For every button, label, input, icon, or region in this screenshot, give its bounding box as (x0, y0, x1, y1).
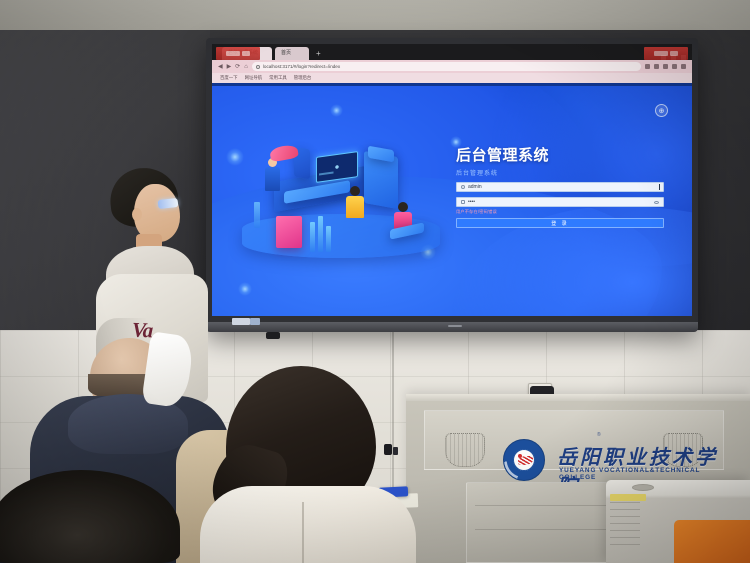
screen-corner-label-left (216, 47, 260, 60)
bookmark-item[interactable]: 百度一下 (220, 75, 238, 81)
label-tick (654, 51, 668, 56)
seal-emblem (513, 449, 535, 471)
glow-dot (238, 282, 252, 296)
label-tick (226, 51, 240, 56)
browser-window: 若依管理系统 首页 + ◀ ▶ ⟳ ⌂ local (212, 44, 692, 86)
podium-name-plate: ® 岳阳职业技术学院 YUEYANG VOCATIONAL&TECHNICAL … (424, 410, 724, 470)
glow-dot (330, 104, 343, 117)
interactive-flat-panel[interactable]: 若依管理系统 首页 + ◀ ▶ ⟳ ⌂ local (206, 38, 698, 330)
audience-woman-coat (200, 486, 416, 563)
extensions-icon[interactable] (663, 64, 668, 69)
browser-toolbar: ◀ ▶ ⟳ ⌂ localhost:3171/#/login?redirect=… (212, 60, 692, 73)
panel-status-led (448, 325, 462, 327)
user-icon (461, 185, 465, 189)
illu-bar (310, 222, 315, 252)
url-text: localhost:3171/#/login?redirect=/index (263, 64, 340, 69)
coat-seam (302, 502, 304, 563)
isometric-illustration (240, 130, 445, 265)
speaker-grille-left (445, 433, 485, 467)
audience-foreground (0, 470, 180, 563)
shield-icon (256, 65, 260, 69)
login-page: ⊕ (212, 86, 692, 316)
back-icon[interactable]: ◀ (218, 64, 223, 70)
panel-microphone (266, 332, 280, 339)
username-value: admin (468, 184, 656, 190)
profile-icon[interactable] (672, 64, 677, 69)
classroom-photo: 若依管理系统 首页 + ◀ ▶ ⟳ ⌂ local (0, 0, 750, 563)
username-input[interactable]: admin (456, 182, 664, 192)
menu-icon[interactable] (681, 64, 686, 69)
illu-bar (326, 226, 331, 252)
browser-tabstrip: 若依管理系统 首页 + (212, 44, 692, 60)
login-title: 后台管理系统 (456, 144, 664, 165)
bookmarks-bar[interactable]: 百度一下 网址导航 常用工具 管理后台 (212, 73, 692, 83)
illu-bar (318, 216, 323, 252)
password-input[interactable]: •••• (456, 197, 664, 207)
illu-person-center (344, 186, 368, 230)
desk-vent-slots (610, 502, 640, 546)
login-submit-button[interactable]: 登 录 (456, 218, 664, 228)
illu-monitor-content (319, 154, 355, 179)
podium-top-surface (406, 394, 750, 401)
registered-mark: ® (597, 432, 601, 438)
login-subtitle: 后台管理系统 (456, 168, 664, 177)
illu-person-body (265, 167, 280, 191)
college-name-en: YUEYANG VOCATIONAL&TECHNICAL COLLEGE (559, 467, 723, 481)
eye-icon[interactable] (654, 201, 659, 204)
login-error-text: 用户不存在/密码错误 (456, 209, 664, 215)
college-seal-logo (503, 439, 545, 481)
lock-icon (461, 200, 465, 204)
yellow-label (610, 494, 646, 501)
bookmark-item[interactable]: 管理后台 (294, 75, 312, 81)
panel-bottom-bezel (206, 322, 698, 332)
address-bar[interactable]: localhost:3171/#/login?redirect=/index (252, 62, 641, 71)
star-icon[interactable] (645, 64, 650, 69)
label-tick (242, 51, 250, 56)
bookmark-item[interactable]: 常用工具 (269, 75, 287, 81)
presenter-ear (132, 208, 142, 221)
illu-pink-box (276, 216, 302, 248)
download-icon[interactable] (654, 64, 659, 69)
illu-person-body (346, 196, 364, 218)
illu-bar (254, 202, 260, 228)
desk-cable-grommet (632, 484, 654, 491)
password-value: •••• (468, 199, 651, 205)
home-icon[interactable]: ⌂ (244, 64, 248, 70)
toolbar-actions[interactable] (645, 64, 686, 69)
orange-equipment (674, 520, 750, 563)
label-tick (670, 51, 678, 56)
bookmark-item[interactable]: 网址导航 (245, 75, 263, 81)
foreground-hair (0, 470, 180, 563)
globe-icon[interactable]: ⊕ (655, 104, 668, 117)
browser-tab-inactive[interactable]: 首页 (275, 47, 309, 60)
new-tab-button[interactable]: + (312, 47, 325, 60)
illu-person-head (350, 186, 360, 196)
side-desk (606, 480, 750, 563)
panel-screen: 若依管理系统 首页 + ◀ ▶ ⟳ ⌂ local (212, 44, 692, 316)
screen-corner-label-right (644, 47, 688, 60)
illu-person-left (262, 158, 284, 206)
audience-woman (206, 366, 410, 563)
ceiling (0, 0, 750, 34)
illu-person-head (398, 202, 408, 212)
login-form: 后台管理系统 后台管理系统 admin •••• 用户不存在/密码错误 登 录 (456, 144, 664, 228)
panel-button[interactable] (232, 318, 250, 325)
text-caret (659, 184, 660, 190)
reload-icon[interactable]: ⟳ (235, 64, 240, 70)
panel-button[interactable] (250, 318, 260, 325)
forward-icon[interactable]: ▶ (227, 64, 232, 70)
